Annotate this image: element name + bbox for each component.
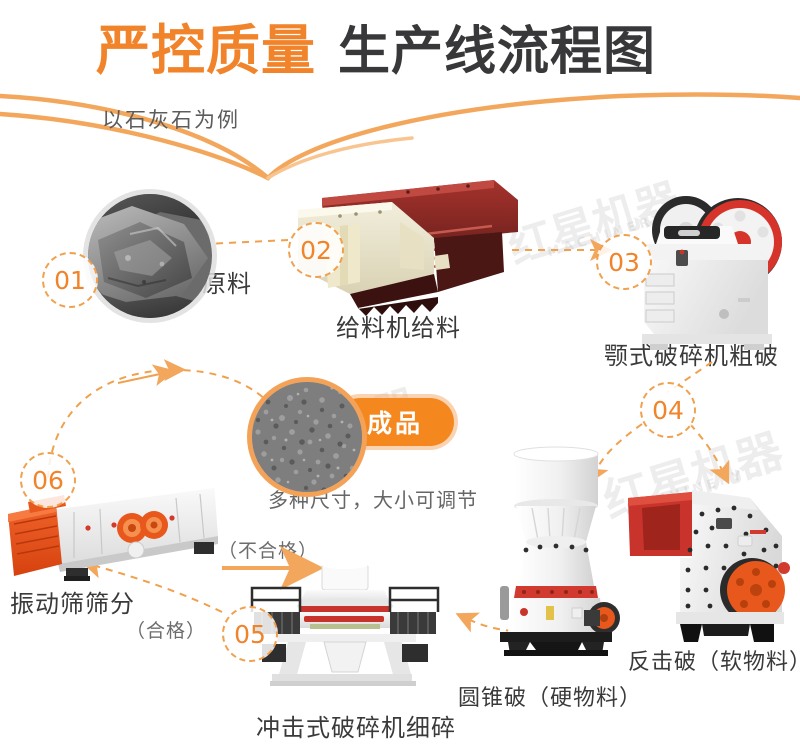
step-badge-03[interactable]: 03	[596, 234, 652, 290]
step-badge-01[interactable]: 01	[42, 252, 98, 308]
step-badge-04[interactable]: 04	[640, 382, 696, 438]
raw-material-photo	[88, 194, 212, 318]
step-badge-05[interactable]: 05	[222, 606, 278, 662]
step-badge-02[interactable]: 02	[288, 222, 344, 278]
connector-01-02	[205, 240, 288, 244]
step-badge-06[interactable]: 06	[20, 452, 76, 508]
connector-04-impact	[690, 424, 722, 470]
finished-product-photo	[252, 382, 362, 492]
flowchart-page: 严控质量 生产线流程图 以石灰石为例 红星机器 MACHINERY 红星机器 红…	[0, 0, 800, 750]
connector-06-product	[48, 370, 272, 478]
